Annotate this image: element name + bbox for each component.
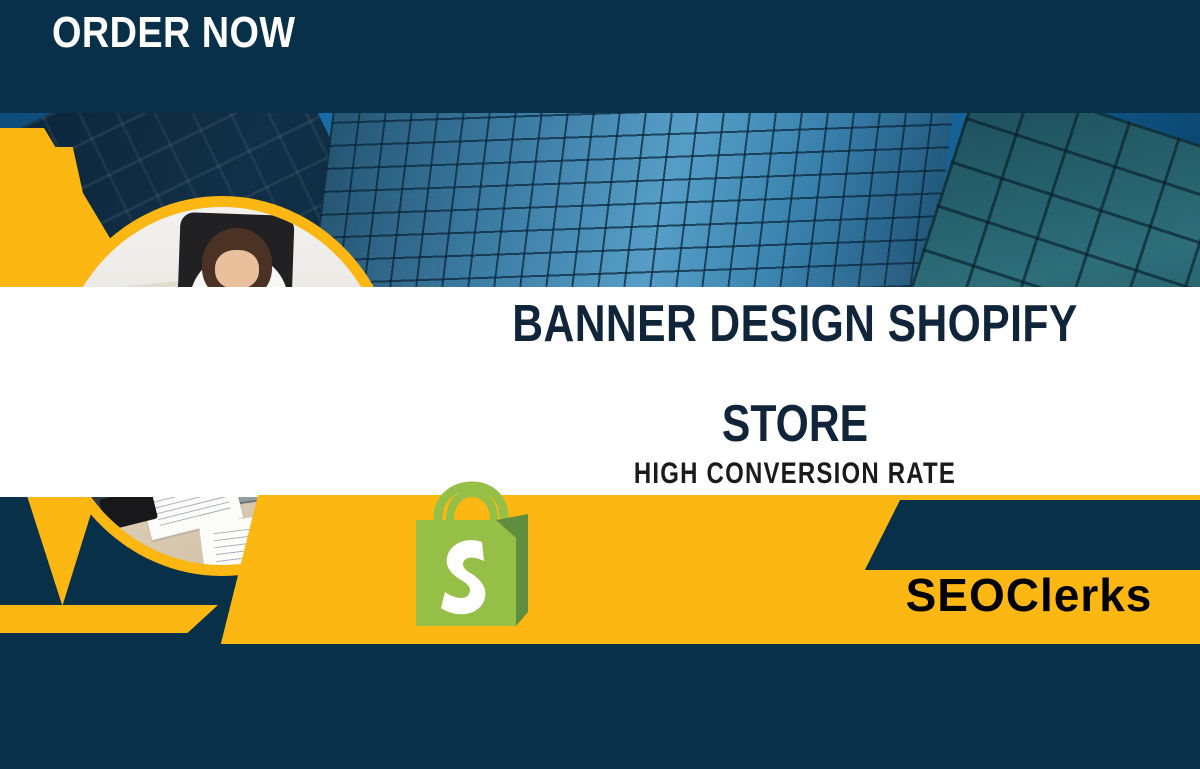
headline-line-1: BANNER DESIGN SHOPIFY (463, 298, 1127, 350)
promo-banner: BANNER DESIGN SHOPIFY STORE HIGH CONVERS… (0, 0, 1200, 769)
brand-name: SEOClerks (858, 572, 1200, 618)
order-now-button[interactable] (858, 500, 1200, 570)
yellow-left-strip (0, 605, 218, 633)
headline-line-2: STORE (463, 398, 1127, 450)
shopify-bag-icon (398, 480, 550, 630)
person-center-face (215, 250, 258, 289)
order-now-label[interactable]: ORDER NOW (52, 11, 296, 55)
tagline-text: HIGH CONVERSION RATE (471, 459, 1119, 489)
